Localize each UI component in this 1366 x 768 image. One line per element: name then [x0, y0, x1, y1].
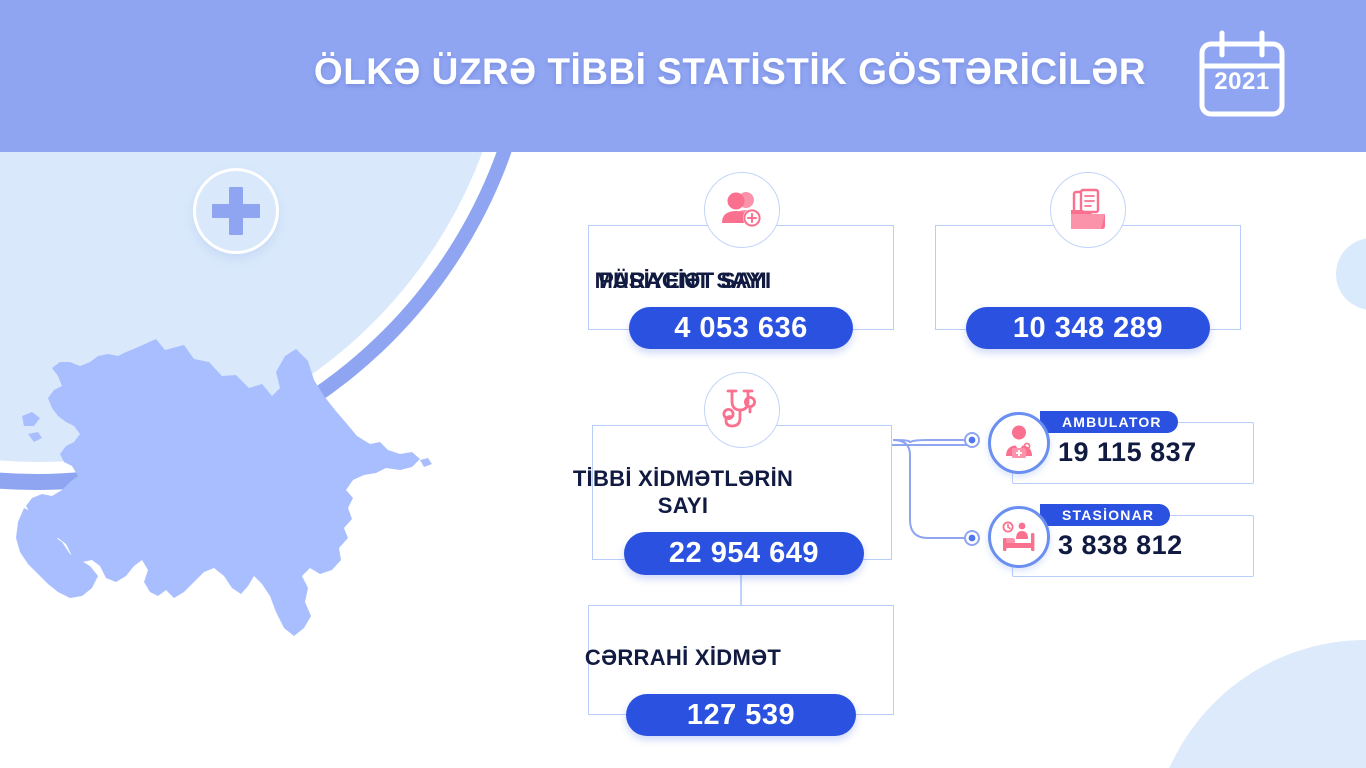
- branch-ambulator-value: 19 115 837: [1058, 437, 1197, 468]
- card-patients-value: 4 053 636: [629, 307, 853, 349]
- patients-group-add-icon: [704, 172, 780, 248]
- hospital-bed-icon: [988, 506, 1050, 568]
- card-requests-value: 10 348 289: [966, 307, 1210, 349]
- infographic-stage: ÖLKƏ ÜZRƏ TİBBİ STATİSTİK GÖSTƏRİCİLƏR 2…: [0, 0, 1366, 768]
- branch-stasionar-label: STASİONAR: [1040, 504, 1170, 526]
- card-services-value: 22 954 649: [624, 532, 864, 575]
- calendar-year-label: 2021: [1196, 68, 1288, 96]
- folder-documents-icon: [1050, 172, 1126, 248]
- cross-bar-vertical: [229, 187, 243, 235]
- stethoscope-icon: [704, 372, 780, 448]
- card-surgery-value: 127 539: [626, 694, 856, 736]
- card-surgery-title: CƏRRAHİ XİDMƏT: [0, 645, 1366, 672]
- branch-ambulator-label: AMBULATOR: [1040, 411, 1178, 433]
- card-services-title-line2: SAYI: [658, 493, 709, 518]
- page-title: ÖLKƏ ÜZRƏ TİBBİ STATİSTİK GÖSTƏRİCİLƏR: [300, 52, 1160, 93]
- branch-stasionar-value: 3 838 812: [1058, 530, 1183, 561]
- medical-cross-icon: [193, 168, 279, 254]
- card-services-title-line1: TİBBİ XİDMƏTLƏRİN: [573, 466, 793, 491]
- calendar-icon: 2021: [1196, 28, 1288, 120]
- doctor-icon: [988, 412, 1050, 474]
- card-requests-title: MÜRACİƏT SAYI: [0, 268, 1366, 295]
